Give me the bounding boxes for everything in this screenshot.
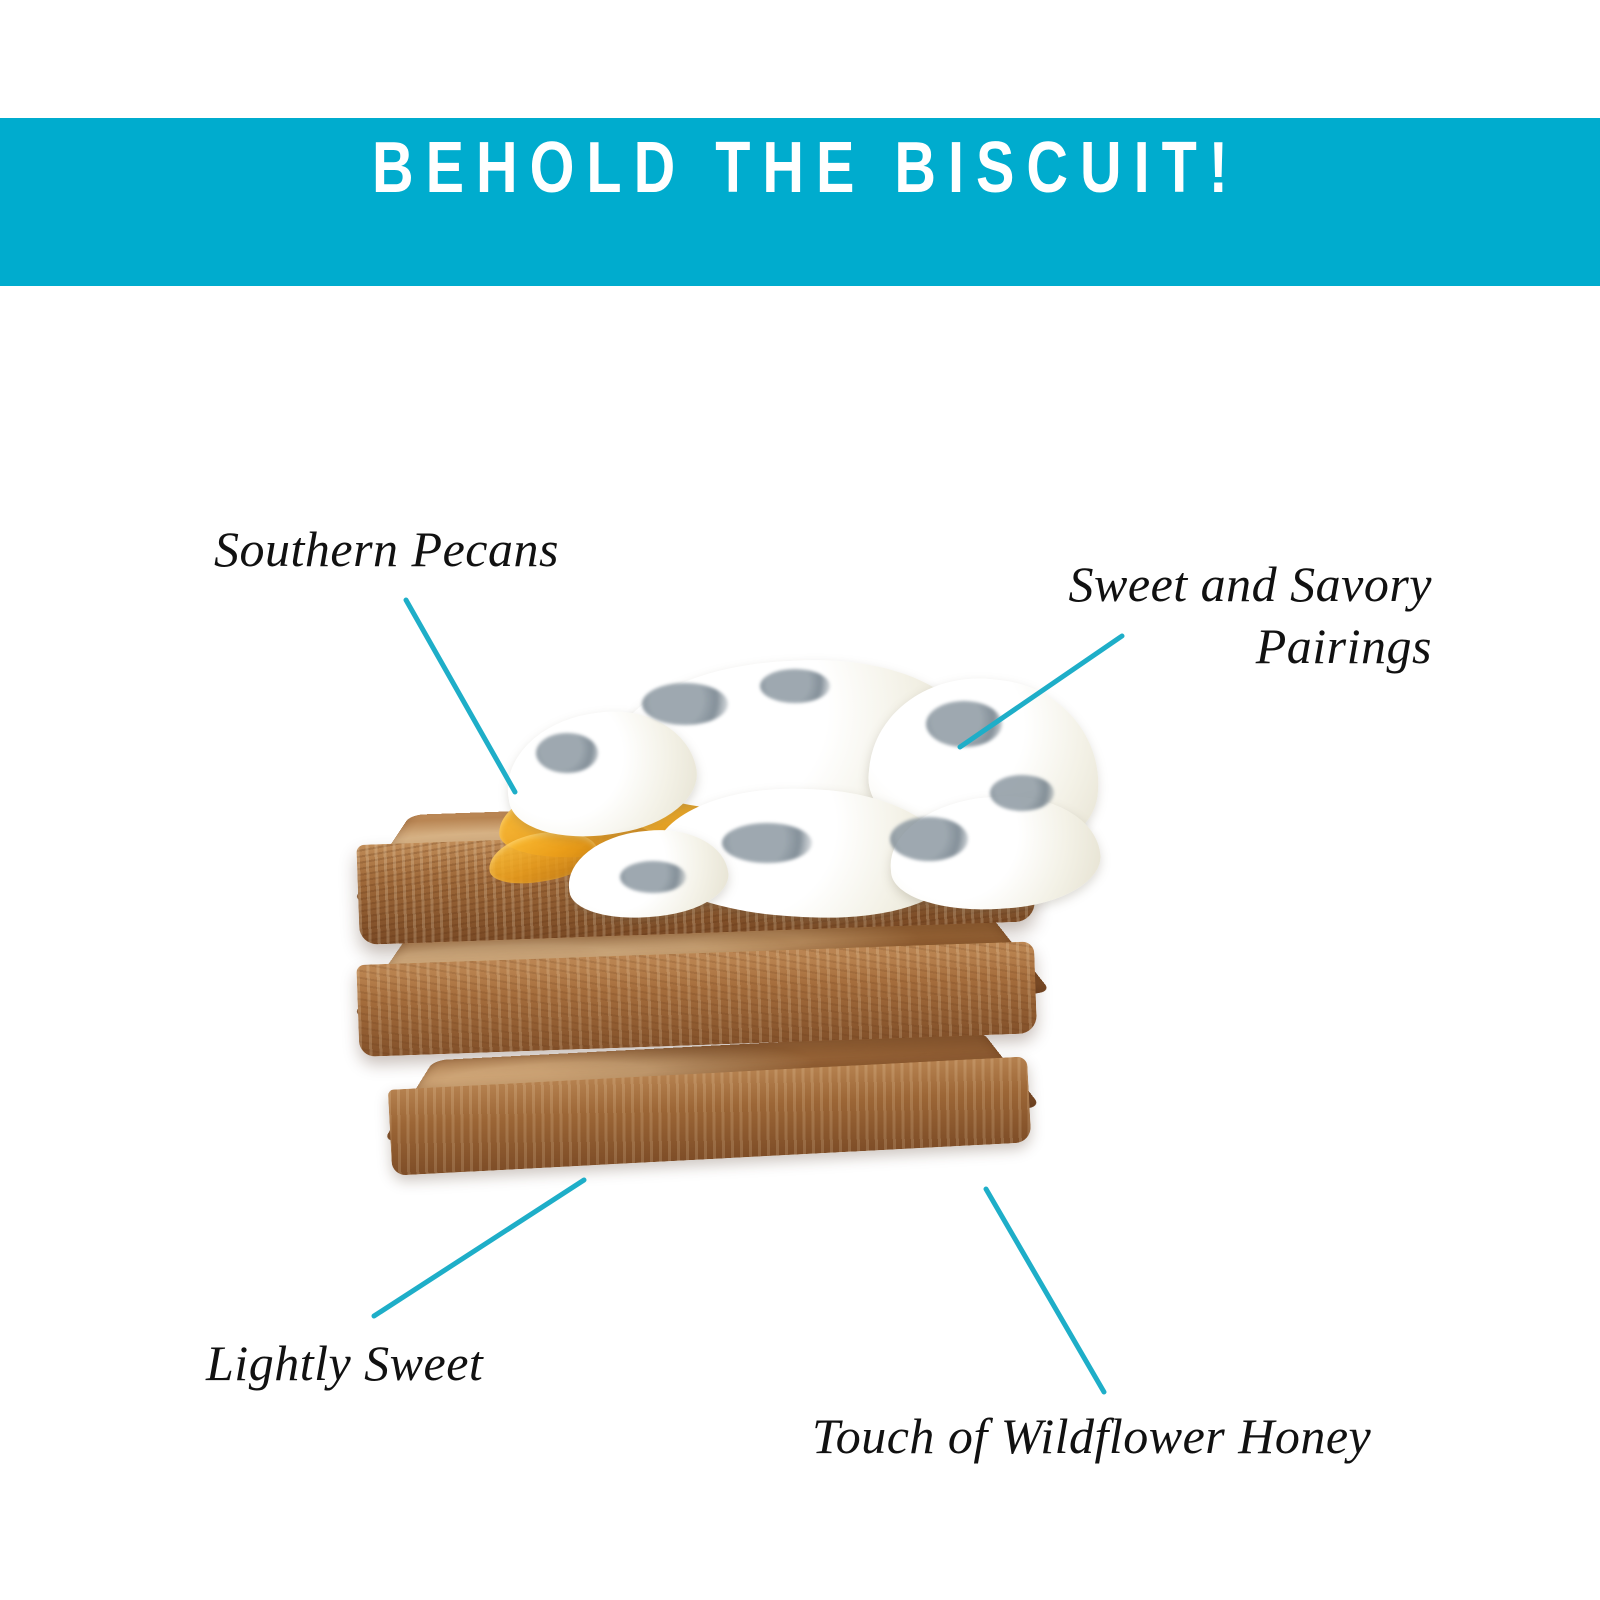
blue-vein-1 xyxy=(642,683,728,725)
callout-label-touch-of-wildflower-honey: Touch of Wildflower Honey xyxy=(812,1405,1371,1467)
blue-vein-7 xyxy=(990,775,1054,811)
callout-label-southern-pecans: Southern Pecans xyxy=(214,518,559,580)
blue-vein-2 xyxy=(760,669,830,703)
blue-vein-4 xyxy=(536,733,598,773)
blue-vein-6 xyxy=(890,817,968,861)
blue-vein-8 xyxy=(620,861,686,893)
blue-vein-5 xyxy=(722,823,812,863)
poster-canvas: BEHOLD THE BISCUIT! xyxy=(0,0,1600,1600)
callout-label-sweet-and-savory-pairings: Sweet and Savory Pairings xyxy=(1069,553,1432,677)
header-banner: BEHOLD THE BISCUIT! xyxy=(0,118,1600,286)
callout-label-lightly-sweet: Lightly Sweet xyxy=(206,1332,483,1394)
blue-vein-3 xyxy=(926,701,1002,747)
banner-title: BEHOLD THE BISCUIT! xyxy=(360,132,1240,204)
product-photo xyxy=(330,655,1230,1275)
